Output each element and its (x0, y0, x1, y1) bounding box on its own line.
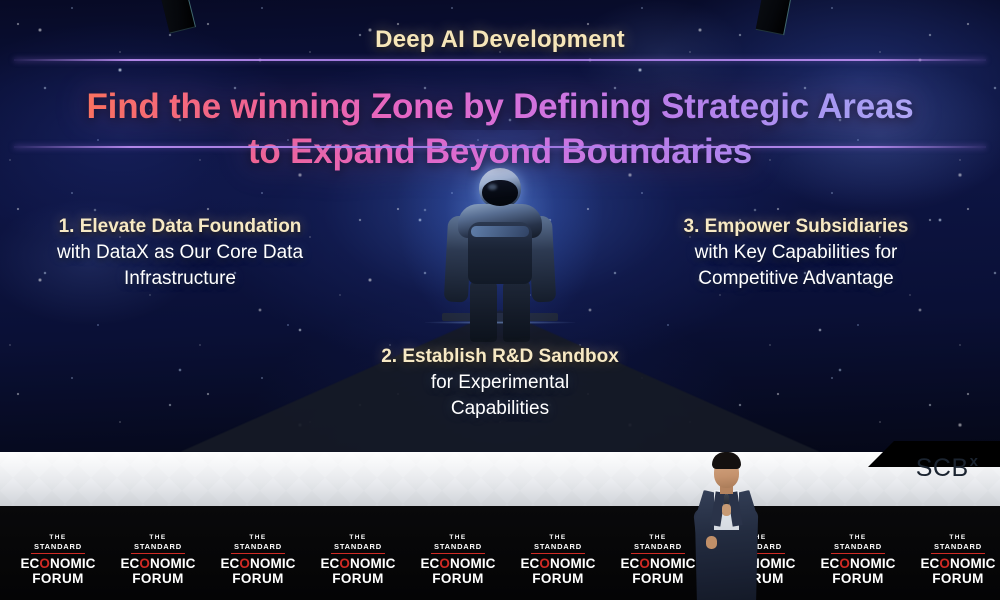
slide-headline-line-1: Find the winning Zone by Defining Strate… (86, 87, 913, 126)
logo-the-text: THE (810, 534, 906, 542)
logo-economic-part-1: EC (220, 556, 239, 571)
logo-forum-text: FORUM (10, 571, 106, 586)
logo-economic-text: ECONOMIC (110, 556, 206, 571)
logo-economic-part-1: EC (520, 556, 539, 571)
logo-the-text: THE (110, 534, 206, 542)
logo-economic-red-o: O (839, 556, 850, 571)
scb-logo-superscript-x: x (970, 454, 978, 469)
logo-economic-part-1: EC (420, 556, 439, 571)
stage-skirt-panel (0, 452, 1000, 506)
logo-standard-text: STANDARD (831, 542, 885, 553)
skirt-shading (0, 452, 1000, 506)
logo-economic-red-o: O (239, 556, 250, 571)
economic-forum-backdrop-logo: THESTANDARDECONOMICFORUM (810, 534, 906, 586)
logo-economic-text: ECONOMIC (210, 556, 306, 571)
bullet-1-body-line-2: Infrastructure (20, 266, 340, 292)
astronaut-leg-left (470, 280, 497, 342)
speaker-hair (712, 452, 741, 469)
bullet-3-heading: 3. Empower Subsidiaries (636, 214, 956, 240)
logo-economic-part-2: NOMIC (450, 556, 496, 571)
logo-forum-text: FORUM (510, 571, 606, 586)
logo-economic-text: ECONOMIC (10, 556, 106, 571)
economic-forum-backdrop-logo: THESTANDARDECONOMICFORUM (910, 534, 1000, 586)
economic-forum-backdrop-logo: THESTANDARDECONOMICFORUM (110, 534, 206, 586)
logo-the-text: THE (310, 534, 406, 542)
logo-standard-text: STANDARD (231, 542, 285, 553)
logo-economic-part-2: NOMIC (950, 556, 996, 571)
logo-economic-text: ECONOMIC (310, 556, 406, 571)
astronaut-illustration (444, 168, 556, 340)
economic-forum-backdrop-logo: THESTANDARDECONOMICFORUM (410, 534, 506, 586)
event-backdrop-wall: THESTANDARDECONOMICFORUMTHESTANDARDECONO… (0, 506, 1000, 600)
bullet-3-body-line-2: Competitive Advantage (636, 266, 956, 292)
logo-economic-part-1: EC (120, 556, 139, 571)
economic-forum-backdrop-logo: THESTANDARDECONOMICFORUM (10, 534, 106, 586)
scb-sponsor-logo: SCB x (916, 456, 978, 481)
scb-logo-wordmark: SCB (916, 456, 969, 481)
logo-standard-text: STANDARD (331, 542, 385, 553)
logo-economic-part-2: NOMIC (150, 556, 196, 571)
astronaut-leg-right (503, 280, 530, 342)
logo-forum-text: FORUM (310, 571, 406, 586)
logo-economic-part-1: EC (620, 556, 639, 571)
logo-forum-text: FORUM (110, 571, 206, 586)
logo-economic-red-o: O (639, 556, 650, 571)
logo-forum-text: FORUM (810, 571, 906, 586)
divider-line-top (14, 59, 986, 61)
speaker-hand-holding-microphone (722, 504, 731, 516)
bullet-2-body-line-1: for Experimental (340, 370, 660, 396)
logo-economic-red-o: O (339, 556, 350, 571)
slide-eyebrow-title: Deep AI Development (0, 26, 1000, 54)
logo-standard-text: STANDARD (631, 542, 685, 553)
logo-standard-text: STANDARD (931, 542, 985, 553)
bullet-2-heading: 2. Establish R&D Sandbox (340, 344, 660, 370)
logo-economic-part-1: EC (820, 556, 839, 571)
presentation-screen: Deep AI Development Find the winning Zon… (0, 0, 1000, 452)
logo-forum-text: FORUM (210, 571, 306, 586)
slide-headline-line-2: to Expand Beyond Boundaries (0, 130, 1000, 174)
logo-standard-text: STANDARD (431, 542, 485, 553)
logo-economic-text: ECONOMIC (910, 556, 1000, 571)
divider-line-bottom (14, 146, 986, 148)
logo-economic-part-2: NOMIC (550, 556, 596, 571)
bullet-2-body-line-2: Capabilities (340, 396, 660, 422)
logo-the-text: THE (910, 534, 1000, 542)
logo-the-text: THE (210, 534, 306, 542)
logo-standard-text: STANDARD (31, 542, 85, 553)
logo-standard-text: STANDARD (531, 542, 585, 553)
logo-economic-part-2: NOMIC (350, 556, 396, 571)
logo-standard-text: STANDARD (131, 542, 185, 553)
astronaut-chest-band (471, 226, 529, 237)
logo-economic-part-2: NOMIC (50, 556, 96, 571)
economic-forum-backdrop-logo: THESTANDARDECONOMICFORUM (210, 534, 306, 586)
logo-forum-text: FORUM (910, 571, 1000, 586)
conference-stage-photo: Deep AI Development Find the winning Zon… (0, 0, 1000, 600)
logo-economic-text: ECONOMIC (410, 556, 506, 571)
logo-economic-part-1: EC (20, 556, 39, 571)
logo-economic-part-2: NOMIC (250, 556, 296, 571)
economic-forum-backdrop-logo: THESTANDARDECONOMICFORUM (510, 534, 606, 586)
slide-headline: Find the winning Zone by Defining Strate… (0, 85, 1000, 173)
speaker-hand-holding-clicker (706, 536, 717, 549)
speaker-person (678, 452, 774, 600)
logo-economic-text: ECONOMIC (810, 556, 906, 571)
logo-economic-part-1: EC (320, 556, 339, 571)
logo-economic-text: ECONOMIC (510, 556, 606, 571)
slide-bullet-3: 3. Empower Subsidiaries with Key Capabil… (636, 214, 956, 293)
bullet-1-body-line-1: with DataX as Our Core Data (20, 240, 340, 266)
slide-bullet-2: 2. Establish R&D Sandbox for Experimenta… (340, 344, 660, 423)
bullet-3-body-line-1: with Key Capabilities for (636, 240, 956, 266)
logo-economic-red-o: O (139, 556, 150, 571)
bullet-1-heading: 1. Elevate Data Foundation (20, 214, 340, 240)
astronaut-visor (482, 180, 518, 206)
astronaut-visor-glint (488, 184, 497, 190)
logo-the-text: THE (410, 534, 506, 542)
logo-economic-red-o: O (939, 556, 950, 571)
logo-economic-part-1: EC (920, 556, 939, 571)
logo-economic-part-2: NOMIC (850, 556, 896, 571)
logo-economic-red-o: O (439, 556, 450, 571)
economic-forum-backdrop-logo: THESTANDARDECONOMICFORUM (310, 534, 406, 586)
logo-economic-red-o: O (539, 556, 550, 571)
logo-economic-red-o: O (39, 556, 50, 571)
logo-forum-text: FORUM (410, 571, 506, 586)
slide-bullet-1: 1. Elevate Data Foundation with DataX as… (20, 214, 340, 293)
logo-the-text: THE (10, 534, 106, 542)
logo-the-text: THE (510, 534, 606, 542)
